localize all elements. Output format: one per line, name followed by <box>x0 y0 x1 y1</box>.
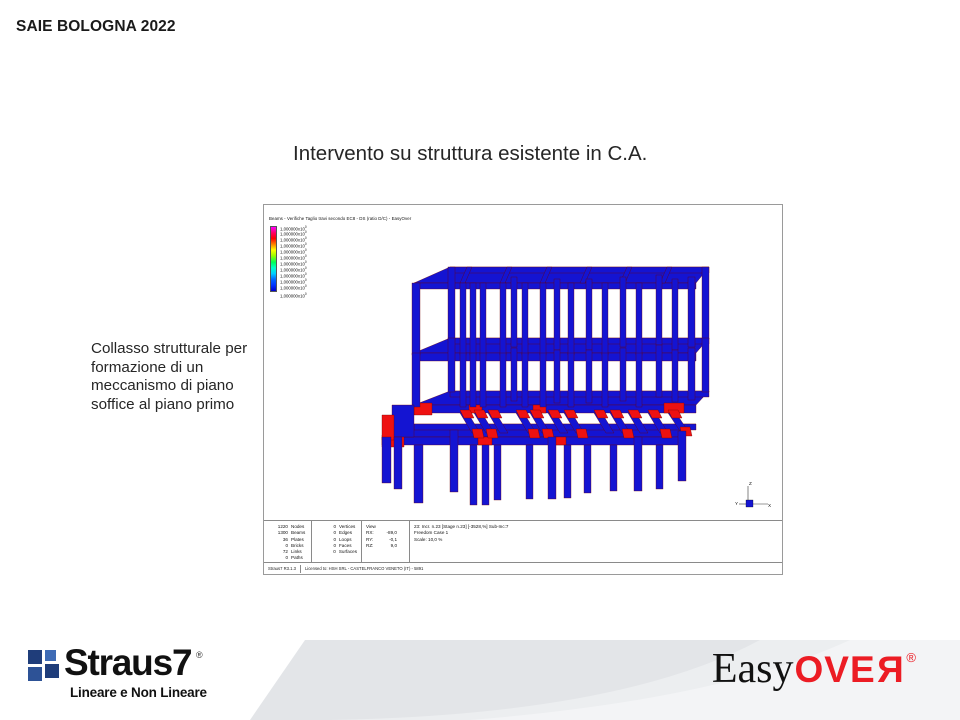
model-info-panel: 1220Nodes 1300Beams 36Plates 0Bricks 72L… <box>264 520 782 562</box>
slide-header: SAIE BOLOGNA 2022 <box>16 18 176 36</box>
info-row: 0Paths <box>268 555 307 561</box>
status-bar: Straus7 R3.1.3 Licensed to: HSH SRL - CA… <box>264 562 782 575</box>
slide-caption-text: Collasso strutturale per formazione di u… <box>91 340 251 414</box>
axis-label-z: Z <box>749 481 752 486</box>
status-version: Straus7 R3.1.3 <box>264 565 301 573</box>
straus7-result-window: Beams - Verifiche Taglio travi secondo E… <box>263 204 783 575</box>
slide-title: Intervento su struttura esistente in C.A… <box>293 142 647 166</box>
straus7-logo: Straus7 ® Lineare e Non Lineare <box>28 644 218 706</box>
contour-color-bar <box>270 226 277 292</box>
axis-triad-indicator: Z X Y <box>734 478 774 512</box>
info-row: Scale: 10,0 % <box>414 537 778 543</box>
easyover-registered-mark: ® <box>906 650 916 665</box>
straus7-wordmark: Straus7 <box>64 642 191 684</box>
geometry-counts-column: 0Vertices 0Edges 0Loops 0Faces 0Surfaces <box>312 521 362 562</box>
easyover-logo: Easy OVER ® <box>712 648 916 700</box>
status-license: Licensed to: HSH SRL - CASTELFRANCO VENE… <box>301 565 427 573</box>
straus7-squares-icon <box>28 650 62 684</box>
info-row: 0Surfaces <box>316 549 357 555</box>
axis-label-x: X <box>768 503 771 508</box>
load-case-column: 23: Incr. n.23 [Stage n.23] [-3528,%] Su… <box>410 521 782 562</box>
presentation-slide: SAIE BOLOGNA 2022 Intervento su struttur… <box>0 0 960 720</box>
axis-label-y: Y <box>735 501 738 506</box>
fea-viewport: Beams - Verifiche Taglio travi secondo E… <box>264 205 782 520</box>
easyover-easy-wordmark: Easy <box>712 648 794 690</box>
view-angles-column: View RX:-89,0 RY:-0,1 RZ:9,0 <box>362 521 410 562</box>
legend-label: 1,000000x100 <box>280 284 307 290</box>
legend-label: 1,000000x100 <box>280 292 307 298</box>
easyover-over-wordmark: OVER <box>795 651 904 688</box>
straus7-registered-mark: ® <box>196 650 203 660</box>
structural-model-render <box>264 205 782 520</box>
contour-legend: 1,000000x100 1,000000x100 1,000000x100 1… <box>270 226 328 292</box>
info-row: RZ:9,0 <box>366 543 405 549</box>
entity-counts-column: 1220Nodes 1300Beams 36Plates 0Bricks 72L… <box>264 521 312 562</box>
straus7-tagline: Lineare e Non Lineare <box>70 685 207 700</box>
contour-legend-title: Beams - Verifiche Taglio travi secondo E… <box>269 216 411 221</box>
